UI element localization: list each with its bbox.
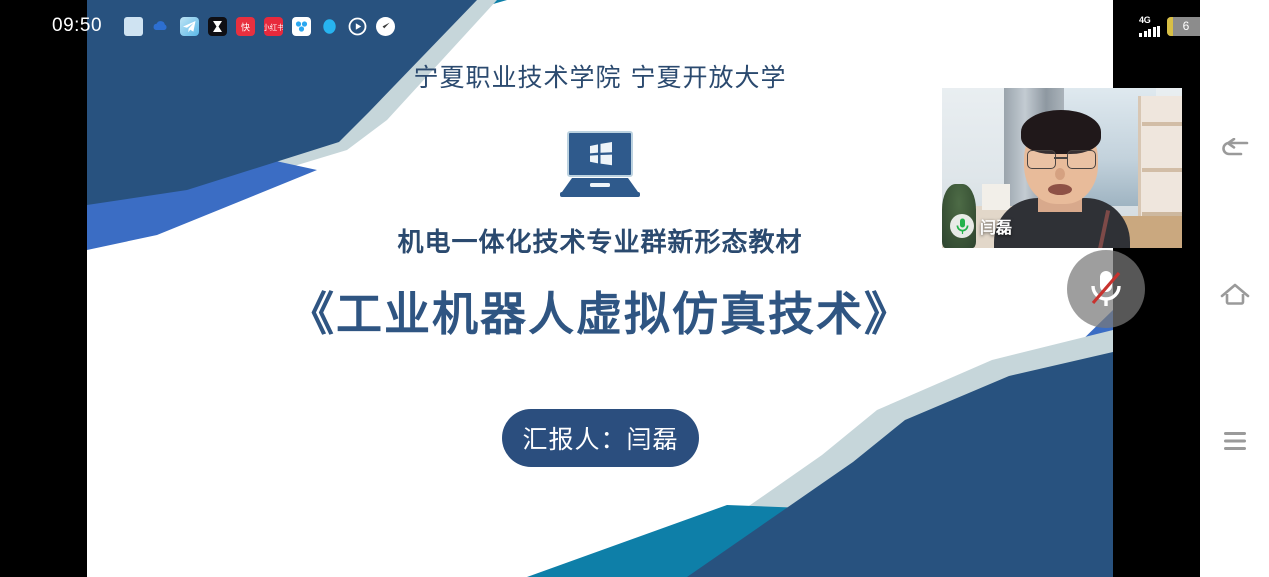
- system-navigation-bar: [1200, 0, 1269, 577]
- participant-name: 闫磊: [980, 214, 1012, 238]
- participant-video-tile[interactable]: 闫磊: [942, 88, 1182, 248]
- presentation-slide[interactable]: 宁夏职业技术学院 宁夏开放大学 机电一体化技术专业群新形态教材 《工业机器人虚拟…: [87, 0, 1113, 577]
- microphone-muted-button[interactable]: [1067, 250, 1145, 328]
- slide-main-title: 《工业机器人虚拟仿真技术》: [87, 278, 1113, 344]
- presenter-label: 汇报人：闫磊: [522, 420, 678, 456]
- battery-level-fill: [1167, 17, 1173, 36]
- home-button[interactable]: [1212, 272, 1258, 318]
- person-mouth: [1048, 184, 1072, 195]
- back-button[interactable]: [1212, 128, 1258, 174]
- back-icon: [1219, 138, 1251, 164]
- network-indicator: 4G: [1139, 16, 1160, 37]
- person-hair: [1021, 110, 1101, 154]
- glasses-icon: [1026, 150, 1096, 167]
- presenter-badge: 汇报人：闫磊: [502, 409, 699, 467]
- home-icon: [1219, 282, 1251, 308]
- network-type-label: 4G: [1139, 16, 1160, 25]
- phone-screen: 宁夏职业技术学院 宁夏开放大学 机电一体化技术专业群新形态教材 《工业机器人虚拟…: [0, 0, 1269, 577]
- shelf-board: [1142, 122, 1182, 126]
- signal-strength-icon: [1139, 26, 1160, 37]
- microphone-muted-icon: [1086, 266, 1126, 312]
- recents-icon: [1219, 430, 1251, 452]
- recents-button[interactable]: [1212, 418, 1258, 464]
- person-nose: [1055, 168, 1065, 180]
- microphone-icon: [950, 214, 974, 238]
- shelf-board: [1142, 168, 1182, 172]
- box: [982, 184, 1010, 210]
- laptop-windows-icon: [560, 130, 640, 202]
- participant-name-badge: 闫磊: [950, 214, 1012, 238]
